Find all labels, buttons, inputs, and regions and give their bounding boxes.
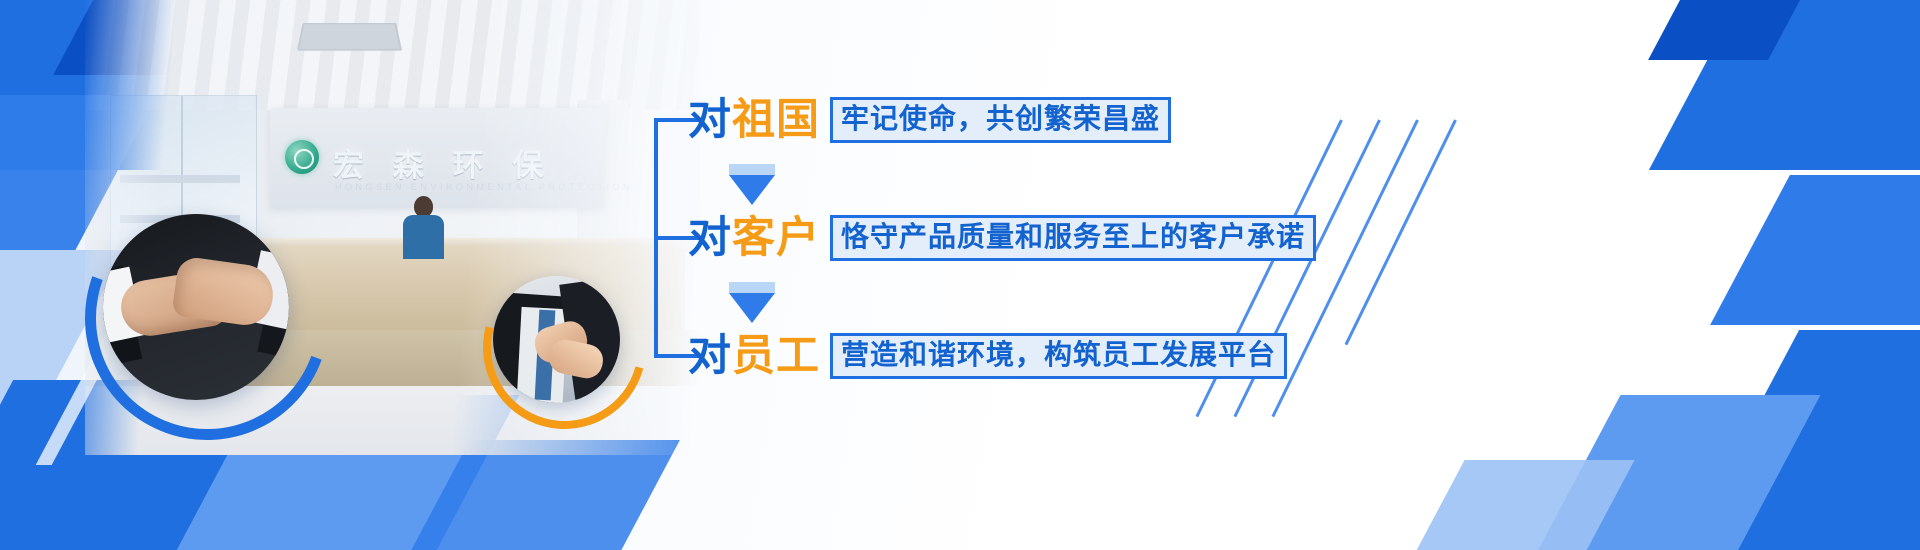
values-content: 对祖国 牢记使命，共创繁荣昌盛 对客户 恪守产品质量和服务至上的客户承诺 对员工… [640,0,1580,550]
value-row-employee: 对员工 营造和谐环境，构筑员工发展平台 [688,328,1287,384]
value-lead-prefix: 对 [688,95,732,145]
value-lead-employee: 对员工 [688,335,820,378]
company-name-subtitle: HONGSEN ENVIRONMENTAL PROTECTION [335,182,633,192]
company-name-sign: 宏 森 环 保 [333,140,552,185]
company-logo-icon [285,140,319,174]
value-lead-keyword: 客户 [732,213,820,263]
value-statement-customer: 恪守产品质量和服务至上的客户承诺 [830,215,1316,261]
value-statement-country: 牢记使命，共创繁荣昌盛 [830,97,1171,143]
value-row-country: 对祖国 牢记使命，共创繁荣昌盛 [688,92,1171,148]
value-lead-customer: 对客户 [688,217,820,260]
value-row-customer: 对客户 恪守产品质量和服务至上的客户承诺 [688,210,1316,266]
company-values-banner: 宏 森 环 保 HONGSEN ENVIRONMENTAL PROTECTION [0,0,1920,550]
value-statement-employee: 营造和谐环境，构筑员工发展平台 [830,333,1287,379]
value-lead-country: 对祖国 [688,99,820,142]
shelf-upper [120,175,240,183]
receptionist-figure [401,196,445,258]
value-lead-keyword: 祖国 [732,95,820,145]
value-lead-prefix: 对 [688,213,732,263]
ceiling-vent [297,23,402,51]
value-lead-keyword: 员工 [732,331,820,381]
value-lead-prefix: 对 [688,331,732,381]
decor-shape-right-3 [1710,175,1920,325]
